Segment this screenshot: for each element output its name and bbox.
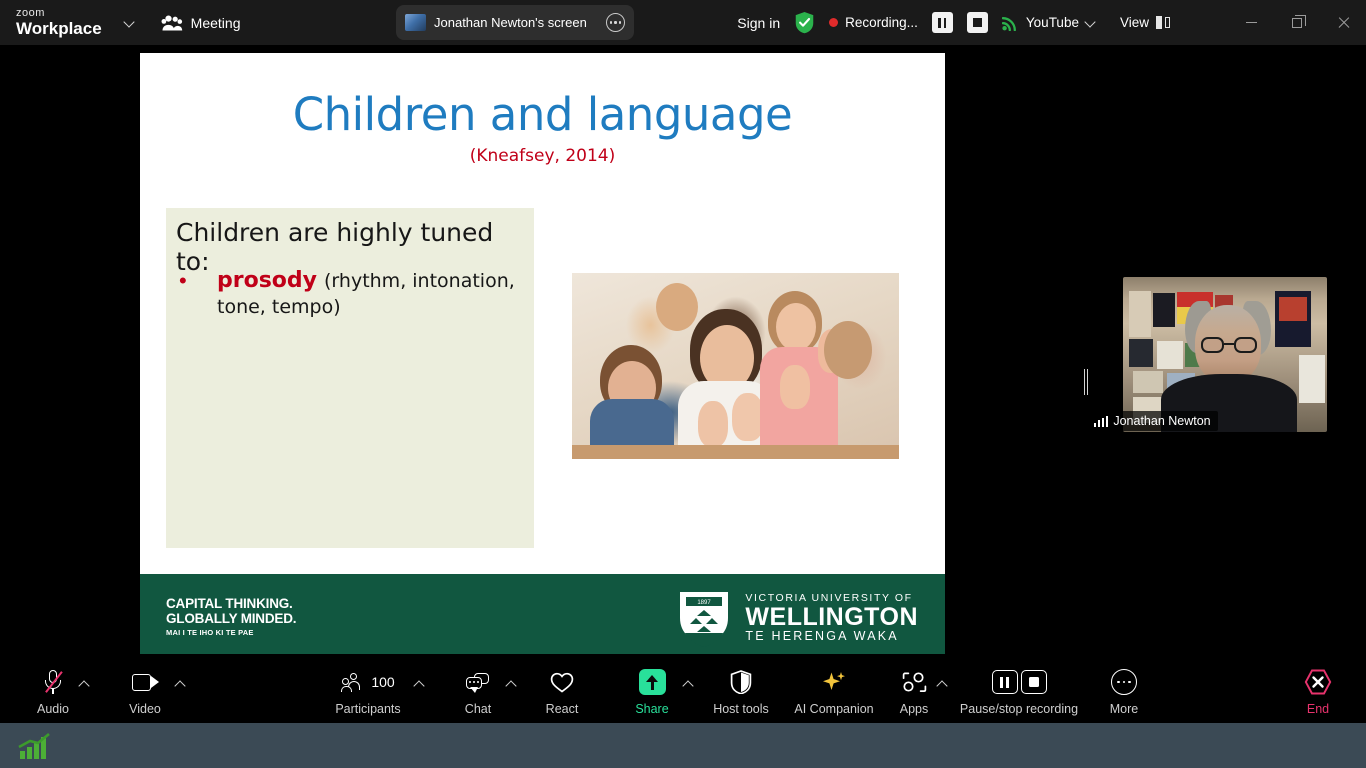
svg-text:1897: 1897: [698, 600, 712, 606]
vuw-crest-icon: 1897: [675, 589, 733, 647]
bullet-marker: •: [179, 268, 217, 321]
pause-stop-icon: [992, 667, 1047, 697]
encryption-shield-icon[interactable]: [794, 11, 815, 34]
slide-title: Children and language: [140, 88, 945, 141]
chevron-down-icon: [124, 17, 135, 28]
workplace-dropdown-button[interactable]: [124, 17, 135, 28]
footer-tagline-line3: MAI I TE IHO KI TE PAE: [166, 628, 296, 637]
control-apps[interactable]: Apps: [877, 667, 951, 716]
shared-screen-pill[interactable]: Jonathan Newton's screen: [396, 5, 634, 40]
microphone-muted-icon: [43, 667, 63, 697]
vuw-wordmark: VICTORIA UNIVERSITY OF WELLINGTON TE HER…: [745, 593, 918, 643]
zoom-control-bar: Audio Video 100 Participants Chat: [0, 661, 1366, 723]
zoom-titlebar: zoom Workplace Meeting Jonathan Newton's…: [0, 0, 1366, 45]
apps-icon: [902, 667, 927, 697]
recording-dot-icon: [829, 18, 838, 27]
participant-name-badge: Jonathan Newton: [1090, 411, 1218, 431]
participants-count: 100: [371, 674, 394, 690]
video-options-caret[interactable]: [174, 677, 188, 691]
screen-root: zoom Workplace Meeting Jonathan Newton's…: [0, 0, 1366, 768]
apps-options-caret[interactable]: [936, 677, 950, 691]
shared-screen-stage[interactable]: Children and language (Kneafsey, 2014) C…: [7, 51, 1080, 655]
footer-tagline: CAPITAL THINKING. GLOBALLY MINDED. MAI I…: [166, 596, 296, 637]
close-button[interactable]: [1320, 0, 1366, 45]
windows-taskbar: 1 Search: [0, 723, 1366, 768]
recording-status[interactable]: Recording...: [829, 15, 918, 30]
slide-photo-children-clapping: [572, 273, 899, 459]
control-chat[interactable]: Chat: [441, 667, 515, 716]
control-end-label: End: [1307, 702, 1329, 716]
control-video[interactable]: Video: [108, 667, 182, 716]
control-apps-label: Apps: [900, 702, 929, 716]
presentation-slide: Children and language (Kneafsey, 2014) C…: [140, 53, 945, 654]
signal-strength-icon: [1094, 416, 1108, 427]
control-host-tools-label: Host tools: [713, 702, 769, 716]
control-audio[interactable]: Audio: [16, 667, 90, 716]
bullet-keyword: prosody: [217, 268, 317, 293]
panel-resize-handle[interactable]: [1084, 369, 1088, 395]
tab-meeting[interactable]: Meeting: [161, 15, 241, 31]
pause-recording-icon[interactable]: [992, 670, 1018, 694]
youtube-label: YouTube: [1026, 15, 1079, 30]
slide-content-box: Children are highly tuned to: • prosody …: [166, 208, 534, 548]
control-ai-companion-label: AI Companion: [794, 702, 873, 716]
control-audio-label: Audio: [37, 702, 69, 716]
tab-meeting-label: Meeting: [191, 15, 241, 31]
ellipsis-icon: [1111, 667, 1137, 697]
slide-footer: CAPITAL THINKING. GLOBALLY MINDED. MAI I…: [140, 574, 945, 654]
youtube-livestream-button[interactable]: YouTube: [1002, 14, 1096, 31]
vuw-line2: WELLINGTON: [745, 604, 918, 630]
view-layout-button[interactable]: View: [1120, 15, 1170, 30]
control-more-label: More: [1110, 702, 1138, 716]
control-more[interactable]: More: [1087, 667, 1161, 716]
control-host-tools[interactable]: Host tools: [704, 667, 778, 716]
zoom-wordmark-bottom: Workplace: [16, 20, 102, 37]
end-call-icon: [1304, 667, 1332, 697]
chevron-down-icon: [1085, 17, 1096, 28]
zoom-wordmark-top: zoom: [16, 8, 102, 19]
control-react-label: React: [546, 702, 579, 716]
titlebar-right-group: Sign in Recording... YouT: [737, 0, 1170, 45]
control-react[interactable]: React: [525, 667, 599, 716]
growth-chart-tray-icon[interactable]: [16, 731, 56, 761]
control-ai-companion[interactable]: AI Companion: [786, 667, 882, 716]
recording-status-label: Recording...: [845, 15, 918, 30]
chat-bubble-icon: [466, 667, 490, 697]
vuw-logo: 1897 VICTORIA UNIVERSITY OF WELLINGTON T…: [675, 589, 918, 647]
chat-options-caret[interactable]: [505, 677, 519, 691]
footer-tagline-line1: CAPITAL THINKING.: [166, 596, 296, 611]
audio-options-caret[interactable]: [78, 677, 92, 691]
stop-recording-button[interactable]: [967, 12, 988, 33]
shared-screen-options-icon[interactable]: [606, 13, 625, 32]
control-chat-label: Chat: [465, 702, 491, 716]
control-recording-label: Pause/stop recording: [960, 702, 1078, 716]
control-participants-label: Participants: [335, 702, 400, 716]
view-label: View: [1120, 15, 1149, 30]
people-icon: 100: [341, 667, 394, 697]
participants-options-caret[interactable]: [413, 677, 427, 691]
share-screen-icon: [639, 667, 666, 697]
control-participants[interactable]: 100 Participants: [331, 667, 405, 716]
person-glasses: [1201, 337, 1257, 353]
control-end[interactable]: End: [1281, 667, 1355, 716]
restore-button[interactable]: [1274, 0, 1320, 45]
pause-recording-button[interactable]: [932, 12, 953, 33]
participant-name: Jonathan Newton: [1113, 414, 1210, 428]
shared-screen-label: Jonathan Newton's screen: [434, 15, 598, 30]
bullet-text: prosody (rhythm, intonation, tone, tempo…: [217, 268, 524, 321]
minimize-button[interactable]: [1228, 0, 1274, 45]
control-pause-stop-recording[interactable]: Pause/stop recording: [955, 667, 1083, 716]
broadcast-icon: [1002, 14, 1020, 31]
heart-icon: [550, 667, 574, 697]
control-share[interactable]: Share: [615, 667, 689, 716]
stop-recording-icon[interactable]: [1021, 670, 1047, 694]
camera-icon: [132, 667, 159, 697]
participant-video-tile[interactable]: [1123, 277, 1327, 432]
sparkle-icon: [821, 667, 847, 697]
content-bullet: • prosody (rhythm, intonation, tone, tem…: [179, 268, 524, 321]
window-controls: [1228, 0, 1366, 45]
layout-icon: [1156, 16, 1170, 29]
sign-in-button[interactable]: Sign in: [737, 15, 780, 31]
control-share-label: Share: [635, 702, 668, 716]
shared-screen-thumbnail: [405, 14, 426, 31]
shield-icon: [730, 667, 752, 697]
share-options-caret[interactable]: [682, 677, 696, 691]
footer-tagline-line2: GLOBALLY MINDED.: [166, 611, 296, 626]
people-icon: [161, 15, 183, 31]
control-video-label: Video: [129, 702, 161, 716]
slide-citation: (Kneafsey, 2014): [140, 146, 945, 166]
zoom-logo: zoom Workplace: [16, 8, 102, 37]
vuw-line3: TE HERENGA WAKA: [745, 630, 918, 643]
